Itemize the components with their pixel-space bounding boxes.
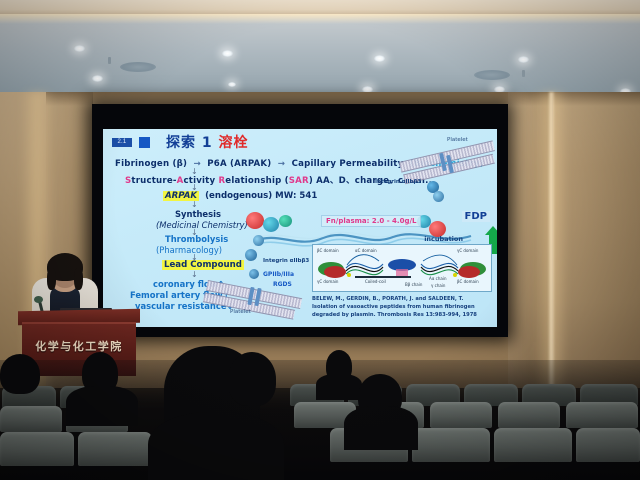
inset-g-chain: γ chain <box>431 283 445 288</box>
audience-head <box>0 354 40 394</box>
lead-compound-highlight: Lead Compound <box>162 260 244 270</box>
citation-line-1: BELEW, M., GERDIN, B., PORATH, J. and SA… <box>312 295 497 303</box>
inset-aa-chain: Aα chain <box>429 276 446 281</box>
fibrin-node-icon <box>279 215 292 227</box>
wall-light-strip <box>548 92 555 392</box>
inset-bc-domain-left: βC domain <box>317 248 339 253</box>
fibrinogen-structure-inset: βC domain αC domain γC domain γC domain … <box>312 244 492 292</box>
inset-ac-domain-left: αC domain <box>355 248 377 253</box>
downlight-icon <box>228 82 236 87</box>
lecture-hall-photo: 2.1 探索 1 溶栓 Fibrinogen (β) → P6A (ARPAK)… <box>0 0 640 480</box>
flow-arrow-icon: ↓ <box>191 253 198 262</box>
fibrin-node-icon <box>245 249 257 261</box>
flow-arrow-icon: ↓ <box>191 270 198 279</box>
fn-plasma-annotation: Fn/plasma: 2.0 - 4.0g/L <box>321 215 421 227</box>
seat <box>0 432 74 466</box>
flow-arrow-icon: ↓ <box>191 183 198 192</box>
ceiling-vent-icon <box>474 70 510 80</box>
speaker-hair-left <box>47 268 56 290</box>
inset-coiled-coil: Coiled-coil <box>365 279 386 284</box>
ceiling-cove-glow <box>0 14 640 24</box>
flow-arrow-icon: ↓ <box>191 167 198 176</box>
podium-sign-text: 化学与化工学院 <box>22 338 136 354</box>
ceiling <box>0 14 640 96</box>
slide-title-main: 探索 1 <box>166 135 213 151</box>
slide-title: 探索 1 溶栓 <box>166 132 249 152</box>
seat <box>430 402 492 428</box>
sar-tructure: tructure- <box>131 176 176 186</box>
platelet-label-top: Platelet <box>447 137 468 143</box>
sar-abbrev: SAR <box>289 176 309 186</box>
arrow-2: → <box>278 159 285 169</box>
fibrin-node-icon <box>249 269 259 279</box>
downlight-icon <box>374 55 385 62</box>
synthesis-label: Synthesis <box>175 209 221 219</box>
seat <box>0 406 62 432</box>
fibrin-node-icon <box>253 235 264 246</box>
coiled-coil-rule <box>355 276 411 278</box>
seat <box>498 402 560 428</box>
downlight-icon <box>74 45 85 52</box>
citation-line-2: Isolation of vasoactive peptides from hu… <box>312 303 497 311</box>
title-bullet-icon <box>139 137 150 148</box>
citation-line-3: degraded by plasmin. Thrombosis Res 13:9… <box>312 311 497 319</box>
slide-title-accent: 溶栓 <box>219 135 249 151</box>
fibrin-node-icon <box>433 191 444 202</box>
slide-citation: BELEW, M., GERDIN, B., PORATH, J. and SA… <box>312 295 497 319</box>
capillary-permeability-label: Capillary Permeability <box>292 159 404 169</box>
inset-bc-domain-right: βC domain <box>457 279 479 284</box>
seat <box>576 428 640 462</box>
presentation-slide: 2.1 探索 1 溶栓 Fibrinogen (β) → P6A (ARPAK)… <box>103 129 497 327</box>
fibrin-node-icon <box>263 217 279 232</box>
sar-ctivity: ctivity <box>183 176 218 186</box>
speaker-hair-right <box>74 268 83 290</box>
inset-bb-chain: Bβ chain <box>405 282 422 287</box>
integrin-label-top: Integrin αIIbβ3 <box>375 179 421 185</box>
seat <box>566 402 638 428</box>
arpak-mw-label: (endogenous) MW: 541 <box>205 191 317 201</box>
downlight-icon <box>92 75 103 82</box>
audience-shoulders <box>344 406 418 450</box>
microphone-icon <box>34 296 43 303</box>
sprinkler-icon <box>522 70 525 77</box>
lead-compound-row: Lead Compound <box>162 260 244 270</box>
audience-shoulders <box>148 412 284 480</box>
slide-section-badge: 2.1 <box>112 138 132 147</box>
downlight-icon <box>222 50 233 57</box>
audience-shoulders <box>66 386 138 426</box>
audience-head <box>228 352 276 406</box>
platelet-label-bottom: Platelet <box>230 309 251 315</box>
fibrin-node-icon <box>246 212 264 229</box>
gp-receptor-label: GPIIb/IIIa <box>263 271 294 278</box>
integrin-label-bottom: Integrin αIIbβ3 <box>263 258 309 264</box>
p6a-label: P6A (ARPAK) <box>207 159 271 169</box>
inset-gc-domain-left: γC domain <box>317 279 338 284</box>
seat <box>412 428 490 462</box>
incubation-label: incubation <box>424 235 463 243</box>
sprinkler-icon <box>108 57 111 64</box>
downlight-icon <box>518 56 529 63</box>
seat <box>494 428 572 462</box>
rgds-label: RGDS <box>273 281 292 288</box>
flow-row-3: ARPAK (endogenous) MW: 541 <box>163 191 317 201</box>
flow-arrow-icon: ↓ <box>191 228 198 237</box>
medicinal-chemistry-label: (Medicinal Chemistry) <box>156 220 248 230</box>
fibrinogen-label: Fibrinogen (β) <box>115 159 187 169</box>
seat <box>78 432 152 466</box>
sar-elationship: elationship ( <box>225 176 289 186</box>
audience-shoulders <box>316 374 362 400</box>
pharmacology-label: (Pharmacology) <box>156 245 222 255</box>
inset-gc-domain-right: γC domain <box>457 248 478 253</box>
fdp-label: FDP <box>462 211 490 222</box>
ceiling-vent-icon <box>120 62 156 72</box>
flow-arrow-icon: ↓ <box>191 200 198 209</box>
